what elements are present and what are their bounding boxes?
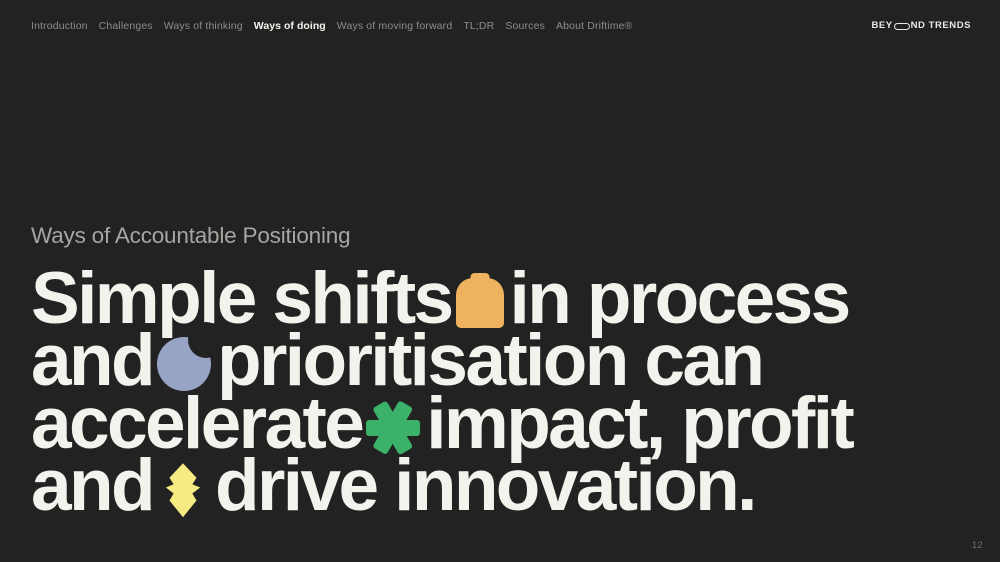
section-eyebrow: Ways of Accountable Positioning [31,222,960,250]
slide-content: Ways of Accountable Positioning Simple s… [31,222,960,518]
nav-item-introduction[interactable]: Introduction [31,18,99,35]
headline-line-4-after: drive innovation. [215,445,755,526]
page-number: 12 [972,540,983,552]
bottle-glyph-body [456,278,504,328]
bottle-glyph [456,273,504,328]
nav-item-challenges[interactable]: Challenges [99,18,164,35]
nav-item-about-driftime[interactable]: About Driftime® [556,18,644,35]
nav-item-sources[interactable]: Sources [505,18,556,35]
headline: Simple shiftsin process andprioritisatio… [31,268,821,518]
slide-canvas: Introduction Challenges Ways of thinking… [0,0,1000,562]
nav-item-ways-of-thinking[interactable]: Ways of thinking [164,18,254,35]
nav-item-tldr[interactable]: TL;DR [463,18,505,35]
headline-line-4-before: and [31,445,153,526]
beyond-trends-logo[interactable]: BEY ND TRENDS [871,21,971,31]
section-nav: Introduction Challenges Ways of thinking… [31,18,644,35]
logo-text-before: BEY [871,21,892,31]
top-navigation-bar: Introduction Challenges Ways of thinking… [0,0,1000,52]
headline-line-4: anddrive innovation. [31,455,821,517]
nav-item-ways-of-doing[interactable]: Ways of doing [254,18,337,35]
asterisk-glyph [366,401,420,455]
diamond-glyph-gem [157,463,209,517]
nav-item-ways-of-moving-forward[interactable]: Ways of moving forward [337,18,464,35]
logo-pill-icon [894,23,910,31]
logo-text-after: ND TRENDS [911,21,971,31]
diamond-glyph [157,463,209,517]
moon-glyph [157,337,211,391]
